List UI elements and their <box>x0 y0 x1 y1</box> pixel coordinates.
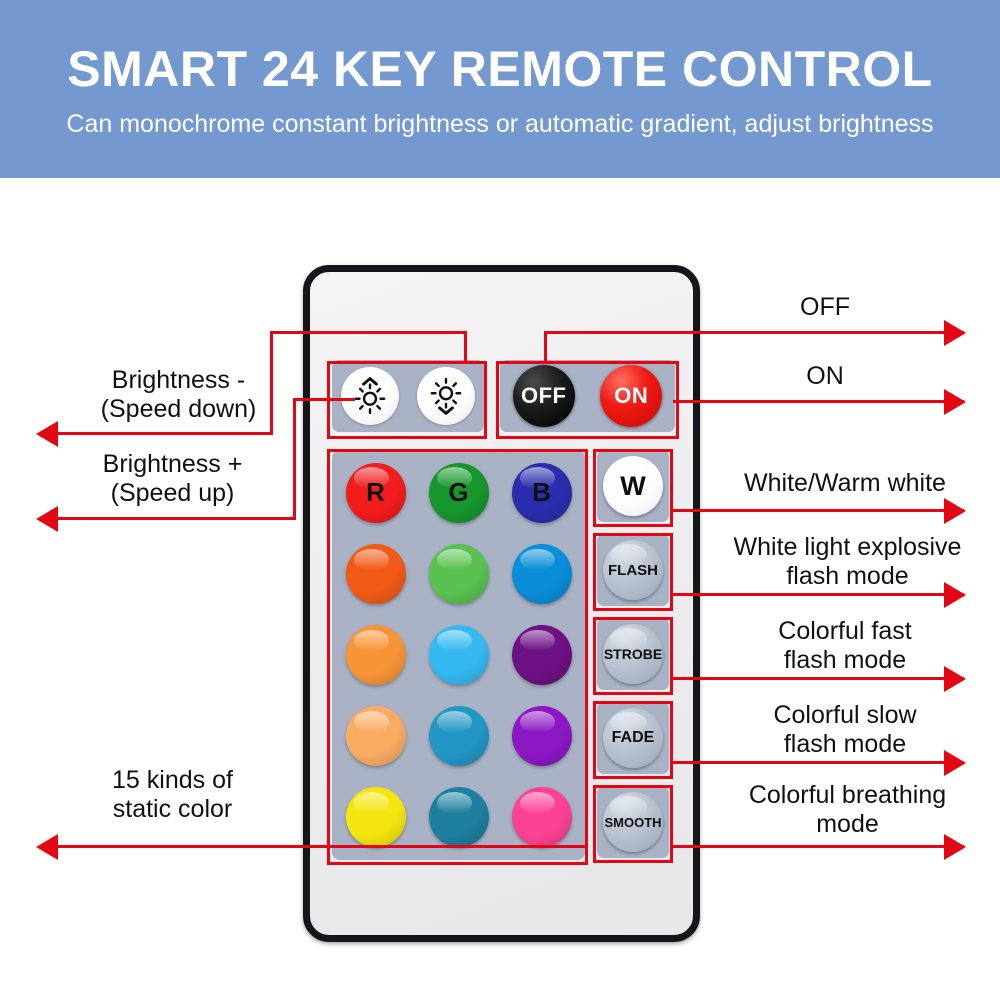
callout-off: OFF <box>700 293 950 322</box>
color-button-light-orange[interactable] <box>346 706 406 766</box>
callout-flash-line1: White light explosive <box>700 533 995 562</box>
color-button-azure[interactable] <box>512 544 572 604</box>
mode-button-strobe-label: STROBE <box>604 646 662 662</box>
power-button-group: OFF ON <box>500 360 675 432</box>
callout-flash-line2: flash mode <box>700 562 995 591</box>
connector-fade-h <box>673 761 964 764</box>
color-button-red[interactable]: R <box>346 463 406 523</box>
connector-brightness-up-h2 <box>42 517 296 520</box>
brightness-button-group <box>332 360 484 432</box>
mode-panel-white: W <box>597 450 669 522</box>
color-button-sky-blue[interactable] <box>429 625 489 685</box>
mode-button-strobe[interactable]: STROBE <box>603 624 663 684</box>
callout-strobe-line1: Colorful fast <box>700 617 990 646</box>
page-subtitle: Can monochrome constant brightness or au… <box>66 110 933 139</box>
callout-brightness-down-line2: (Speed down) <box>66 395 291 424</box>
callout-white: White/Warm white <box>700 469 990 498</box>
infographic-page: SMART 24 KEY REMOTE CONTROL Can monochro… <box>0 0 1000 1000</box>
arrowhead-on <box>944 389 966 415</box>
connector-brightness-up-h1 <box>293 398 355 401</box>
callout-on-line1: ON <box>700 362 950 391</box>
color-button-violet[interactable] <box>512 706 572 766</box>
mode-button-white[interactable]: W <box>603 456 663 516</box>
color-button-dark-teal[interactable] <box>429 787 489 847</box>
mode-button-fade-label: FADE <box>612 729 655 747</box>
color-button-yellow[interactable] <box>346 787 406 847</box>
callout-smooth-line1: Colorful breathing <box>700 781 995 810</box>
sun-up-arrow-icon <box>348 374 392 418</box>
callout-white-line1: White/Warm white <box>700 469 990 498</box>
connector-off-h <box>544 331 964 334</box>
header-banner: SMART 24 KEY REMOTE CONTROL Can monochro… <box>0 0 1000 178</box>
connector-flash-h <box>673 593 964 596</box>
mode-button-flash[interactable]: FLASH <box>603 540 663 600</box>
page-title: SMART 24 KEY REMOTE CONTROL <box>67 44 932 94</box>
sun-down-arrow-icon <box>424 374 468 418</box>
callout-fade-line2: flash mode <box>700 730 990 759</box>
callout-brightness-up-line1: Brightness + <box>60 450 285 479</box>
color-button-orange-red[interactable] <box>346 544 406 604</box>
connector-brightness-down-h1 <box>270 331 467 334</box>
arrowhead-static-color <box>36 834 58 860</box>
color-grid-inner: RGB <box>332 450 585 860</box>
mode-button-fade[interactable]: FADE <box>603 708 663 768</box>
callout-static-color: 15 kinds of static color <box>60 766 285 824</box>
color-button-teal-blue[interactable] <box>429 706 489 766</box>
color-button-green[interactable]: G <box>429 463 489 523</box>
callout-brightness-up-line2: (Speed up) <box>60 479 285 508</box>
callout-flash: White light explosive flash mode <box>700 533 995 591</box>
callout-brightness-down: Brightness - (Speed down) <box>66 366 291 424</box>
connector-static-color <box>42 845 588 848</box>
callout-smooth-line2: mode <box>700 810 995 839</box>
arrowhead-white <box>944 498 966 524</box>
callout-fade-line1: Colorful slow <box>700 701 990 730</box>
mode-button-smooth[interactable]: SMOOTH <box>603 792 663 852</box>
mode-panel-fade: FADE <box>597 702 669 774</box>
mode-panel-flash: FLASH <box>597 534 669 606</box>
callout-on: ON <box>700 362 950 391</box>
connector-off-v <box>544 331 547 363</box>
connector-white-h <box>673 509 964 512</box>
color-button-orange[interactable] <box>346 625 406 685</box>
callout-strobe-line2: flash mode <box>700 646 990 675</box>
remote-control-body: OFF ON RGB W FLASH STROBE FADE <box>303 265 700 942</box>
color-button-grid: RGB <box>332 450 585 860</box>
color-button-light-green[interactable] <box>429 544 489 604</box>
mode-panel-smooth: SMOOTH <box>597 786 669 858</box>
color-button-green-label: G <box>448 477 468 508</box>
callout-brightness-down-line1: Brightness - <box>66 366 291 395</box>
connector-brightness-down-h2 <box>42 432 273 435</box>
mode-panel-strobe: STROBE <box>597 618 669 690</box>
connector-on-h <box>673 400 964 403</box>
connector-smooth-h <box>673 845 964 848</box>
arrowhead-off <box>944 320 966 346</box>
mode-button-flash-label: FLASH <box>608 562 658 579</box>
mode-button-white-label: W <box>620 471 645 502</box>
color-button-blue-label: B <box>532 477 551 508</box>
callout-fade: Colorful slow flash mode <box>700 701 990 759</box>
connector-strobe-h <box>673 677 964 680</box>
arrowhead-brightness-up <box>36 506 58 532</box>
arrowhead-brightness-down <box>36 421 58 447</box>
callout-static-color-line2: static color <box>60 795 285 824</box>
on-button[interactable]: ON <box>600 365 662 427</box>
color-button-blue[interactable]: B <box>512 463 572 523</box>
connector-brightness-down-v1 <box>464 331 467 363</box>
callout-static-color-line1: 15 kinds of <box>60 766 285 795</box>
brightness-down-button[interactable] <box>417 367 475 425</box>
brightness-up-button[interactable] <box>341 367 399 425</box>
color-button-red-label: R <box>366 477 385 508</box>
callout-brightness-up: Brightness + (Speed up) <box>60 450 285 508</box>
color-button-dark-purple[interactable] <box>512 625 572 685</box>
callout-smooth: Colorful breathing mode <box>700 781 995 839</box>
callout-off-line1: OFF <box>700 293 950 322</box>
mode-button-smooth-label: SMOOTH <box>604 815 661 830</box>
connector-brightness-up-v1 <box>293 398 296 520</box>
callout-strobe: Colorful fast flash mode <box>700 617 990 675</box>
off-button[interactable]: OFF <box>513 365 575 427</box>
color-button-pink[interactable] <box>512 787 572 847</box>
